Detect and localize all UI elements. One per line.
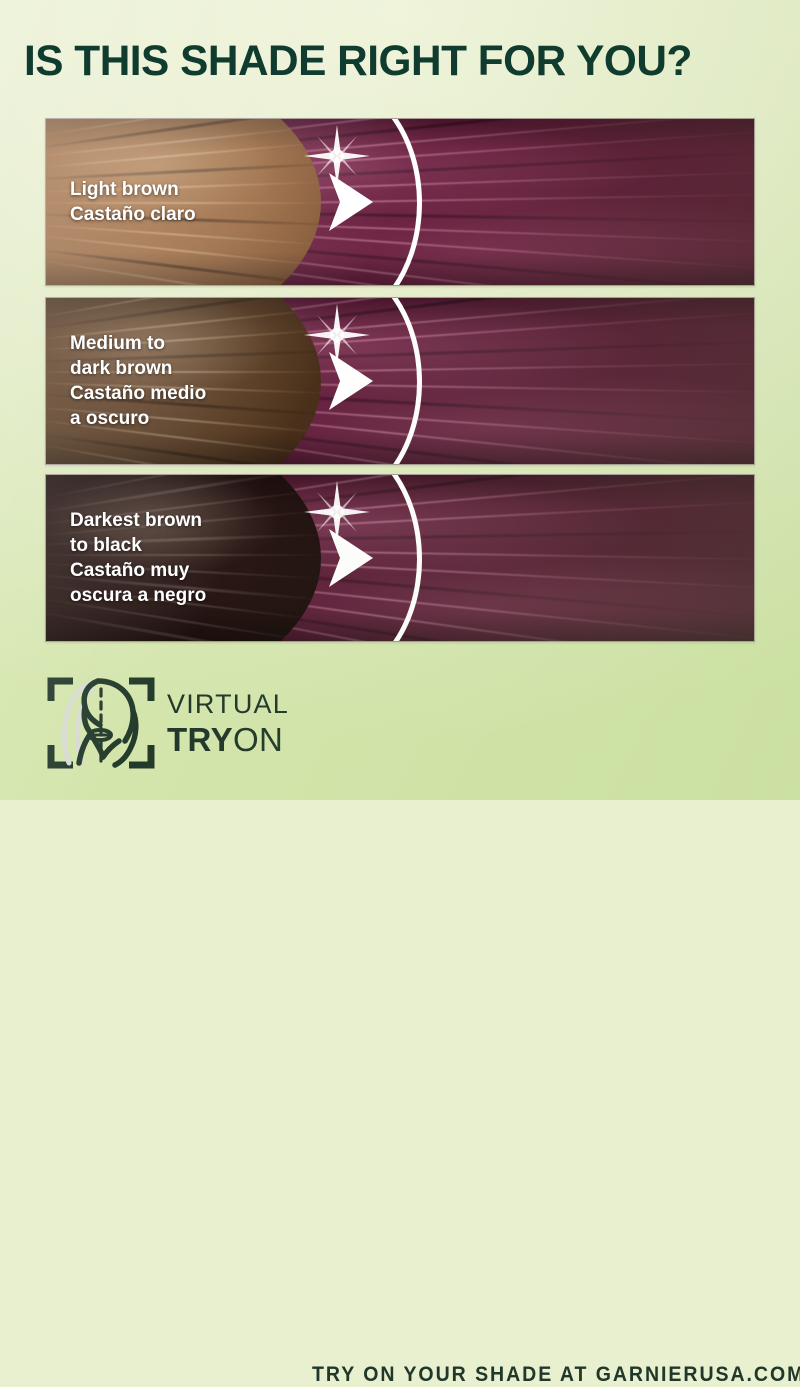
virtual-try-on-logo[interactable]: VIRTUAL TRYON bbox=[45, 668, 305, 778]
promo-canvas: IS THIS SHADE RIGHT FOR YOU? bbox=[0, 0, 800, 800]
page-title: IS THIS SHADE RIGHT FOR YOU? bbox=[24, 36, 769, 86]
compare-arrow-icon bbox=[327, 173, 373, 231]
footer: VIRTUAL TRYON TRY ON YOUR SHADE AT GARNI… bbox=[0, 660, 800, 790]
caption-line: Castaño claro bbox=[70, 202, 196, 227]
caption-line: a oscuro bbox=[70, 406, 206, 431]
caption-line: Light brown bbox=[70, 177, 196, 202]
compare-arrow-icon bbox=[327, 529, 373, 587]
shade-panel-darkest-brown-black[interactable]: Darkest brown to black Castaño muy oscur… bbox=[45, 474, 755, 642]
caption-line: to black bbox=[70, 533, 206, 558]
caption-line: Castaño medio bbox=[70, 381, 206, 406]
shade-panel-medium-dark-brown[interactable]: Medium to dark brown Castaño medio a osc… bbox=[45, 297, 755, 465]
caption-line: Darkest brown bbox=[70, 508, 206, 533]
panel-caption: Light brown Castaño claro bbox=[70, 119, 196, 285]
virtual-try-on-wordmark: VIRTUAL TRYON bbox=[167, 691, 289, 756]
caption-line: oscura a negro bbox=[70, 583, 206, 608]
caption-line: Medium to bbox=[70, 331, 206, 356]
caption-line: dark brown bbox=[70, 356, 206, 381]
shade-panel-light-brown[interactable]: Light brown Castaño claro bbox=[45, 118, 755, 286]
panel-caption: Darkest brown to black Castaño muy oscur… bbox=[70, 475, 206, 641]
logo-line-try: TRY bbox=[167, 721, 233, 758]
logo-line-virtual: VIRTUAL bbox=[167, 691, 289, 718]
compare-arrow-icon bbox=[327, 352, 373, 410]
logo-line-on: ON bbox=[233, 721, 283, 758]
panel-caption: Medium to dark brown Castaño medio a osc… bbox=[70, 298, 206, 464]
caption-line: Castaño muy bbox=[70, 558, 206, 583]
face-scan-icon bbox=[45, 671, 157, 775]
tagline: TRY ON YOUR SHADE AT GARNIERUSA.COM bbox=[312, 1363, 800, 1387]
